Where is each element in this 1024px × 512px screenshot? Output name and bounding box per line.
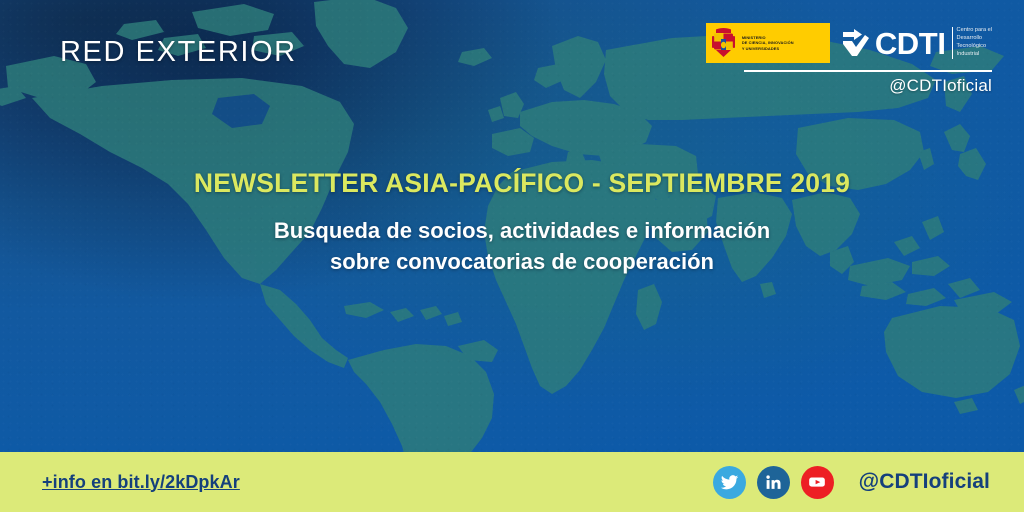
cdti-tagline-line-3: Tecnológico — [957, 43, 992, 51]
logo-row: MINISTERIO DE CIENCIA, INNOVACIÓN Y UNIV… — [706, 22, 992, 64]
subtitle-line-2: sobre convocatorias de cooperación — [20, 246, 1024, 277]
ministry-logo-text: MINISTERIO DE CIENCIA, INNOVACIÓN Y UNIV… — [742, 35, 794, 50]
headline-group: NEWSLETTER ASIA-PACÍFICO - SEPTIEMBRE 20… — [0, 168, 1024, 277]
youtube-icon[interactable] — [801, 466, 834, 499]
cdti-tagline: Centro para el Desarrollo Tecnológico In… — [952, 27, 992, 59]
cdti-tagline-line-4: Industrial — [957, 51, 992, 59]
twitter-icon[interactable] — [713, 466, 746, 499]
footer-social-group: @CDTIoficial — [713, 466, 990, 499]
ministry-line-3: Y UNIVERSIDADES — [742, 46, 794, 51]
page-subtitle: Busqueda de socios, actividades e inform… — [20, 215, 1024, 277]
ministry-logo: MINISTERIO DE CIENCIA, INNOVACIÓN Y UNIV… — [706, 23, 830, 63]
header-social-handle: @CDTIoficial — [889, 76, 992, 96]
cdti-arrow-check-icon — [841, 28, 871, 58]
brand-logo-block: MINISTERIO DE CIENCIA, INNOVACIÓN Y UNIV… — [734, 22, 992, 96]
page-title: NEWSLETTER ASIA-PACÍFICO - SEPTIEMBRE 20… — [20, 168, 1024, 199]
ministry-line-2: DE CIENCIA, INNOVACIÓN — [742, 40, 794, 45]
footer-bar: +info en bit.ly/2kDpkAr — [0, 452, 1024, 512]
footer-social-handle: @CDTIoficial — [859, 470, 990, 494]
spain-coat-of-arms-icon — [710, 27, 737, 60]
section-label: RED EXTERIOR — [60, 36, 297, 69]
cdti-wordmark: CDTI — [875, 28, 946, 59]
cdti-tagline-line-2: Desarrollo — [957, 35, 992, 43]
newsletter-banner: RED EXTERIOR MINISTERIO DE CIENCIA — [0, 0, 1024, 512]
linkedin-icon[interactable] — [757, 466, 790, 499]
cdti-logo: CDTI Centro para el Desarrollo Tecnológi… — [841, 22, 992, 64]
more-info-link[interactable]: +info en bit.ly/2kDpkAr — [42, 472, 240, 493]
subtitle-line-1: Busqueda de socios, actividades e inform… — [20, 215, 1024, 246]
logo-divider-rule — [744, 70, 992, 72]
cdti-tagline-line-1: Centro para el — [957, 27, 992, 35]
